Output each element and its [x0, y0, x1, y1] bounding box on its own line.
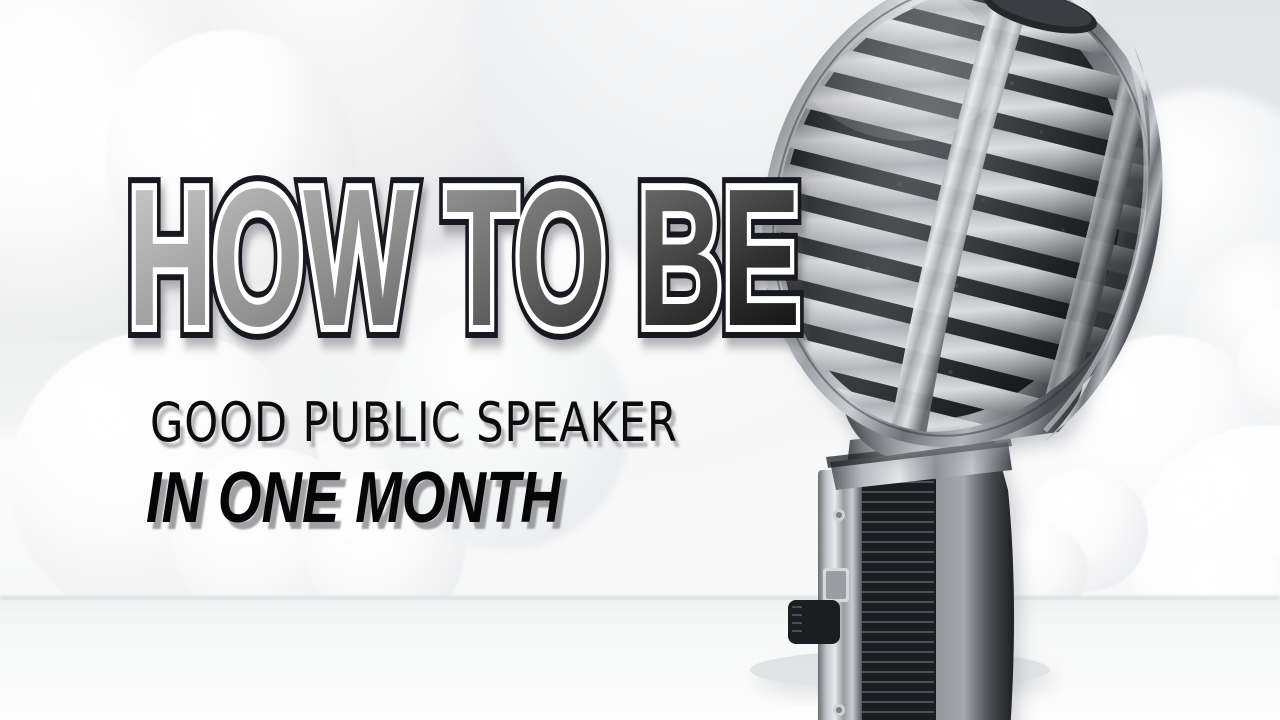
subline-text: GOOD PUBLIC SPEAKER [150, 396, 678, 450]
stand-rail-plate [818, 470, 862, 720]
mic-stand [788, 425, 1014, 720]
text-overlay: HOW TO BE HOW TO BE HOW TO BE GOOD PUBLI… [0, 0, 700, 720]
tagline-text: IN ONE MONTH [146, 462, 561, 534]
thumbnail-canvas: HOW TO BE HOW TO BE HOW TO BE GOOD PUBLI… [0, 0, 1280, 720]
headline-text: HOW TO BE [128, 160, 800, 356]
stand-slider-switch [788, 600, 840, 644]
stand-ridged-grip [858, 475, 936, 720]
